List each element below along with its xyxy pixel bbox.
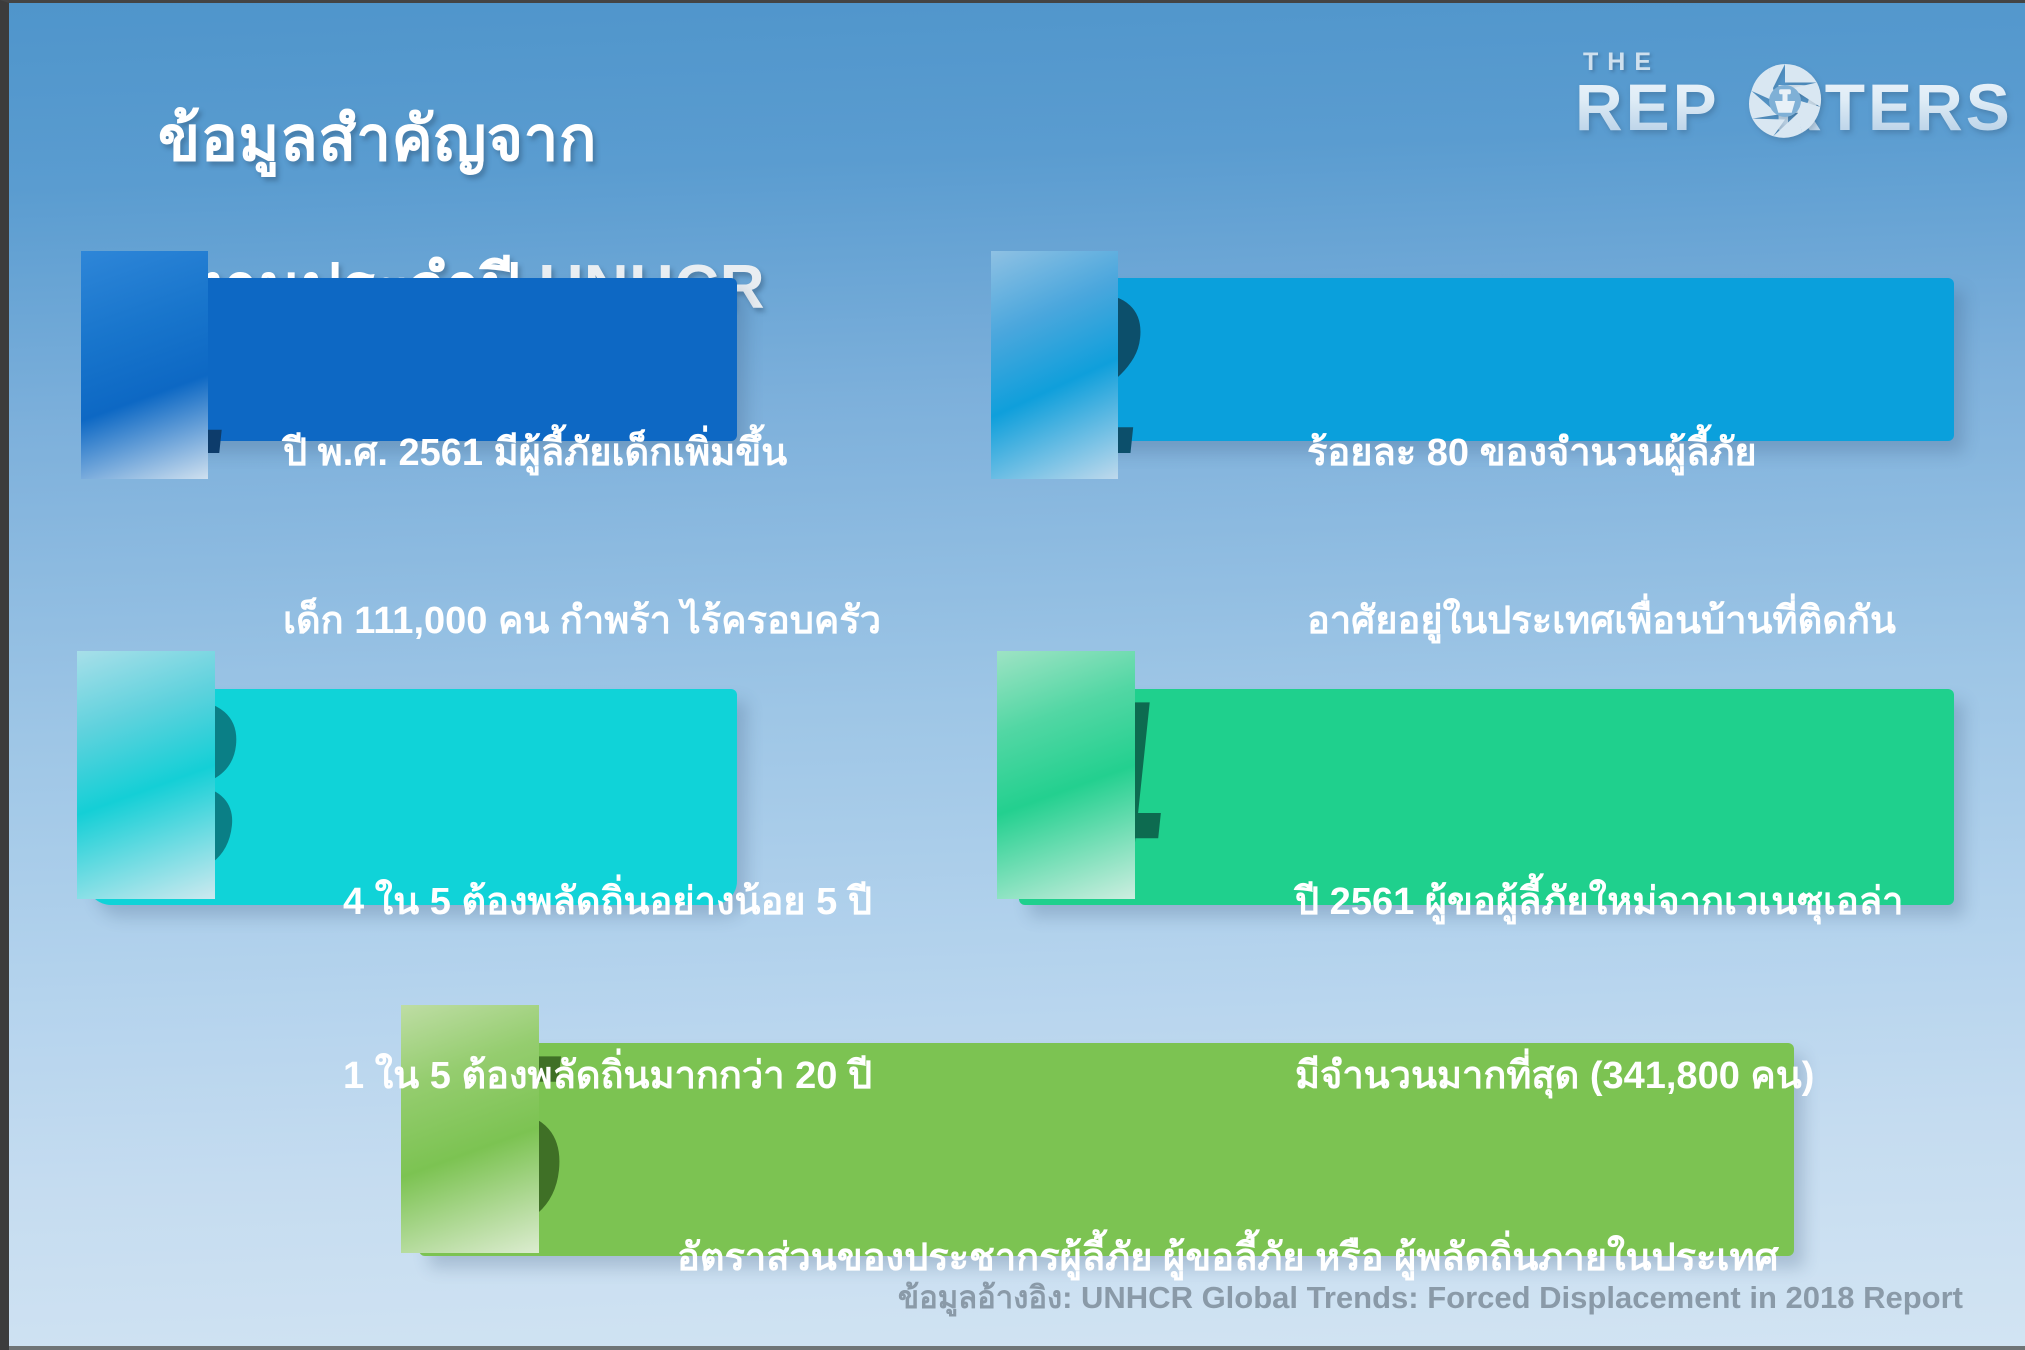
stat-text-1: ปี พ.ศ. 2561 มีผู้ลี้ภัยเด็กเพิ่มขึ้น เด… xyxy=(283,313,881,761)
stat-text-1-line-2: เด็ก 111,000 คน กำพร้า ไร้ครอบครัว xyxy=(283,593,881,649)
title-line-1: ข้อมูลสำคัญจาก xyxy=(158,105,597,174)
stat-number-3: 3 xyxy=(77,651,215,899)
stat-number-2: 2 xyxy=(991,251,1118,479)
stat-text-3-line-2: 1 ใน 5 ต้องพลัดถิ่นมากกว่า 20 ปี xyxy=(343,1047,872,1105)
the-reporters-logo[interactable]: THE REPORTERS xyxy=(1575,45,1965,135)
stat-number-2-shadow: 2 xyxy=(1009,261,1160,489)
stat-text-5: อัตราส่วนของประชากรผู้ลี้ภัย ผู้ขอลี้ภัย… xyxy=(677,1113,1779,1350)
stat-text-2-line-2: อาศัยอยู่ในประเทศเพื่อนบ้านที่ติดกัน xyxy=(1307,593,1896,649)
stat-text-4-line-1: ปี 2561 ผู้ขอผู้ลี้ภัยใหม่จากเวเนซุเอล่า xyxy=(1295,873,1903,931)
stat-number-4-shadow: 4 xyxy=(1014,663,1178,911)
stat-box-1: 1 1 ปี พ.ศ. 2561 มีผู้ลี้ภัยเด็กเพิ่มขึ้… xyxy=(87,278,737,441)
stat-text-5-line-1: อัตราส่วนของประชากรผู้ลี้ภัย ผู้ขอลี้ภัย… xyxy=(677,1229,1779,1287)
stat-text-2: ร้อยละ 80 ของจำนวนผู้ลี้ภัย อาศัยอยู่ในป… xyxy=(1307,313,1896,761)
infographic-poster: ข้อมูลสำคัญจาก รายงานประจำปี UNHCR THE R… xyxy=(0,0,2025,1350)
stat-text-4-line-2: มีจำนวนมากที่สุด (341,800 คน) xyxy=(1295,1047,1903,1105)
stat-text-1-line-1: ปี พ.ศ. 2561 มีผู้ลี้ภัยเด็กเพิ่มขึ้น xyxy=(283,425,881,481)
stat-text-3-line-1: 4 ใน 5 ต้องพลัดถิ่นอย่างน้อย 5 ปี xyxy=(343,873,872,931)
stat-text-2-line-1: ร้อยละ 80 ของจำนวนผู้ลี้ภัย xyxy=(1307,425,1896,481)
camera-aperture-icon xyxy=(1743,59,1827,143)
stat-box-2: 2 2 ร้อยละ 80 ของจำนวนผู้ลี้ภัย อาศัยอยู… xyxy=(1019,278,1954,441)
logo-word-left: REP xyxy=(1575,70,1720,144)
stat-number-4: 4 xyxy=(997,651,1135,899)
stat-number-3-shadow: 3 xyxy=(94,663,258,911)
